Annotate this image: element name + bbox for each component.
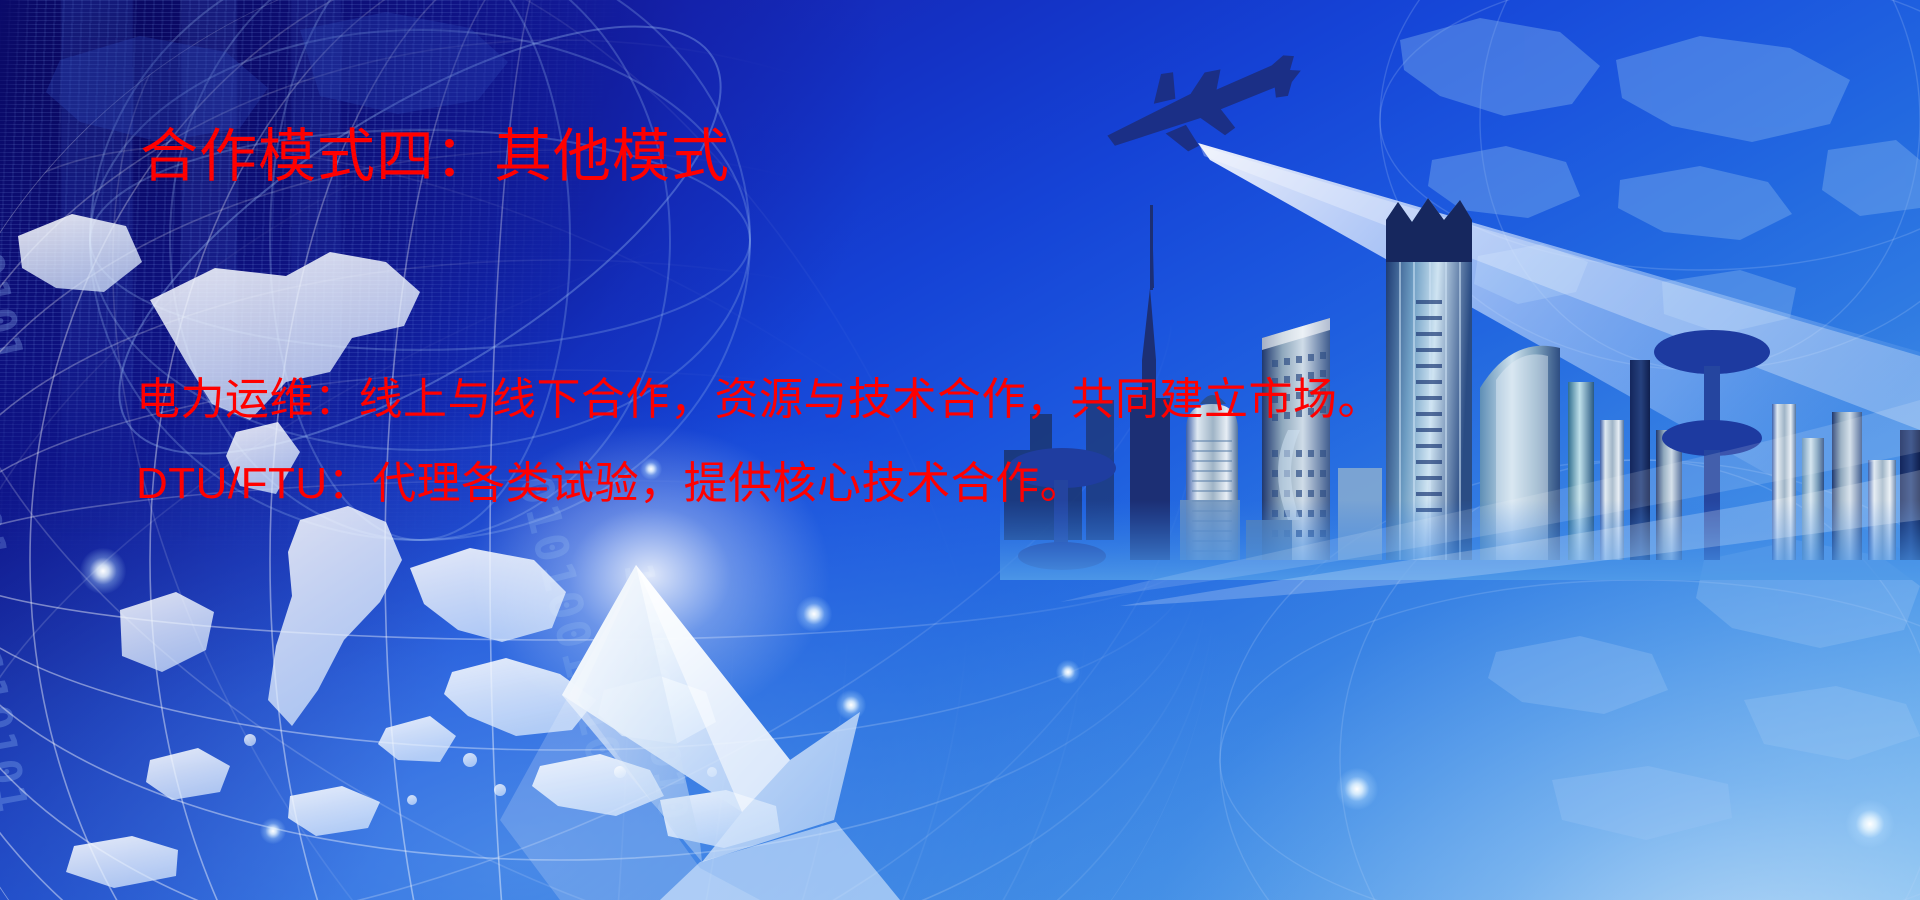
body-line-1: 电力运维：线上与线下合作，资源与技术合作，共同建立市场。 [136,374,1382,427]
body-line-2: DTU/FTU：代理各类试验，提供核心技术合作。 [136,458,1084,511]
slide-text-layer: 合作模式四：其他模式 电力运维：线上与线下合作，资源与技术合作，共同建立市场。 … [0,0,1920,900]
slide-title: 合作模式四：其他模式 [140,124,730,191]
presentation-slide: 0101010101 0010101101 1010110101 0101001… [0,0,1920,900]
